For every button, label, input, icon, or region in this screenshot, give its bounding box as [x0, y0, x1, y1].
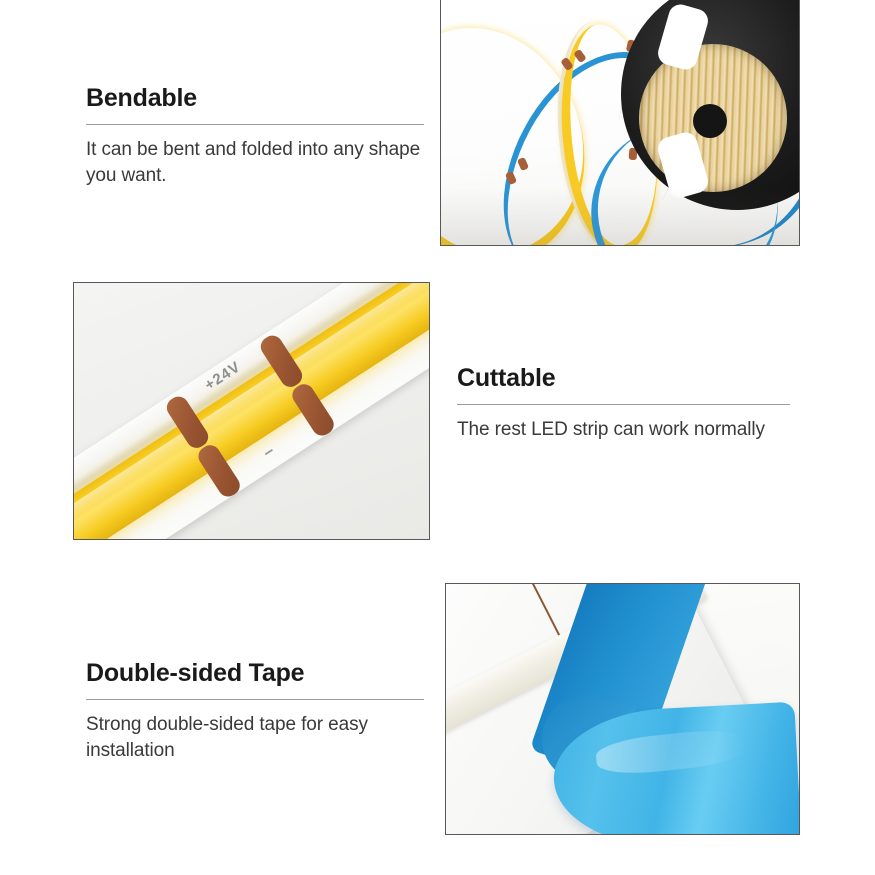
- heading-divider-tape: [86, 699, 424, 700]
- feature-body-tape: Strong double-sided tape for easy instal…: [86, 712, 424, 766]
- heading-divider-bendable: [86, 124, 424, 125]
- photo-bendable-strip: [440, 0, 800, 246]
- floor-shadow: [441, 187, 799, 245]
- infographic-page: Bendable It can be bent and folded into …: [0, 0, 875, 875]
- feature-body-cuttable: The rest LED strip can work normally: [457, 417, 790, 444]
- reel-hub: [693, 104, 727, 138]
- feature-block-cuttable: Cuttable The rest LED strip can work nor…: [457, 365, 790, 443]
- feature-block-bendable: Bendable It can be bent and folded into …: [86, 85, 424, 190]
- photo-tape-stage: 3M: [446, 584, 799, 834]
- feature-heading-bendable: Bendable: [86, 85, 424, 113]
- photo-double-sided-tape: 3M: [445, 583, 800, 835]
- feature-body-bendable: It can be bent and folded into any shape…: [86, 137, 424, 191]
- heading-divider-cuttable: [457, 404, 790, 405]
- photo-cuttable-stage: +24V −: [74, 283, 429, 539]
- feature-heading-tape: Double-sided Tape: [86, 660, 424, 688]
- photo-cuttable-strip: +24V −: [73, 282, 430, 540]
- feature-heading-cuttable: Cuttable: [457, 365, 790, 393]
- photo-bendable-stage: [441, 0, 799, 245]
- feature-block-double-sided-tape: Double-sided Tape Strong double-sided ta…: [86, 660, 424, 765]
